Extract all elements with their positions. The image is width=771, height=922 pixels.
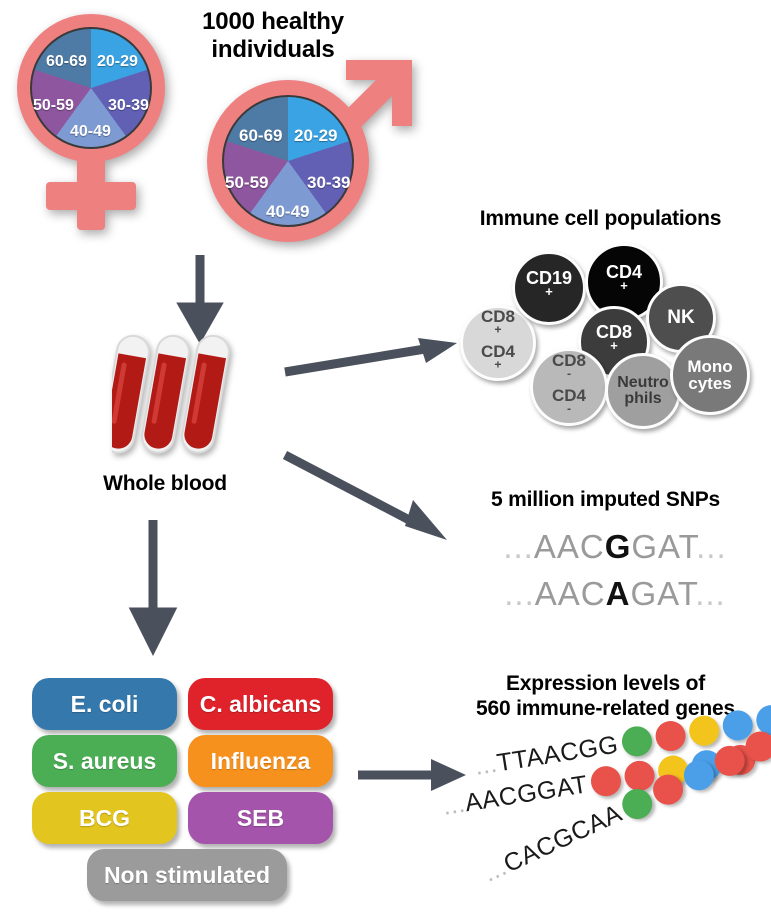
blood-tubes xyxy=(112,334,252,464)
stimulus-label: S. aureus xyxy=(53,748,157,775)
cell-line-1: Neutro xyxy=(617,375,669,391)
strand-bead xyxy=(687,714,721,748)
stimulus-label: E. coli xyxy=(71,691,139,718)
arrow-blood-to-stimuli xyxy=(128,520,178,650)
stimulus-label: BCG xyxy=(79,805,130,832)
female-symbol: 60-69 20-29 50-59 30-39 40-49 xyxy=(8,10,188,240)
age-label-20-29-female: 20-29 xyxy=(97,53,138,71)
stimulus-box-bcg[interactable]: BCG xyxy=(32,792,177,844)
cell-label: NK xyxy=(667,308,694,328)
stimulus-box-seb[interactable]: SEB xyxy=(188,792,333,844)
snp-row: ...AACAGAT... xyxy=(470,575,760,613)
snp-suffix: GAT xyxy=(630,575,695,612)
snp-prefix: AAC xyxy=(535,575,606,612)
snp-row: ...AACGGAT... xyxy=(470,528,760,566)
cell-sup-2: - xyxy=(567,401,571,415)
snp-suffix: GAT xyxy=(631,528,696,565)
cell-sup: + xyxy=(620,278,628,293)
blood-tubes-glyph xyxy=(112,334,252,464)
strand-sequence: ...AACGGAT xyxy=(441,770,590,822)
stimulus-label: Non stimulated xyxy=(104,862,270,889)
immune-cell-cd19p: CD19+ xyxy=(512,251,586,325)
snp-lead: ... xyxy=(504,575,535,612)
snp-variant-base: A xyxy=(606,575,631,612)
arrow-blood-to-snp xyxy=(285,450,460,550)
age-label-30-39-male: 30-39 xyxy=(307,173,350,193)
stimulus-label: C. albicans xyxy=(200,691,321,718)
strand-bead xyxy=(710,741,750,781)
cell-line-2: cytes xyxy=(687,375,732,393)
stimulus-label: SEB xyxy=(237,805,284,832)
whole-blood-label: Whole blood xyxy=(60,472,270,497)
age-label-60-69-male: 60-69 xyxy=(239,126,282,146)
stimulus-label: Influenza xyxy=(211,748,311,775)
strand-bead xyxy=(589,764,623,798)
cell-sup-1: + xyxy=(494,322,501,336)
cell-sup: + xyxy=(545,284,553,299)
snp-sequences: ...AACGGAT... ...AACAGAT... xyxy=(470,528,760,618)
snp-variant-base: G xyxy=(605,528,632,565)
expression-title-line-1: Expression levels of xyxy=(440,672,771,697)
strand-bead xyxy=(620,724,654,758)
immune-cell-cluster: CD8+ CD4+ CD19+ CD4+ CD8+ NK CD8- CD4- N… xyxy=(460,243,760,423)
age-label-60-69-female: 60-69 xyxy=(46,53,87,71)
immune-cell-cd8n-cd4n: CD8- CD4- xyxy=(530,348,608,426)
section-title-immune: Immune cell populations xyxy=(430,207,771,232)
stimulus-box-non-stimulated[interactable]: Non stimulated xyxy=(87,849,287,901)
age-label-50-59-female: 50-59 xyxy=(33,97,74,115)
cohort-title-line-1: 1000 healthy xyxy=(158,8,388,36)
cell-sup-1: - xyxy=(567,366,571,380)
immune-cell-neutrophils: Neutro phils xyxy=(605,353,681,429)
cell-sup: + xyxy=(610,338,618,353)
age-label-20-29-male: 20-29 xyxy=(294,126,337,146)
immune-cell-monocytes: Mono cytes xyxy=(670,335,750,415)
cell-line-1: Mono xyxy=(687,358,732,376)
age-label-30-39-female: 30-39 xyxy=(108,97,149,115)
age-label-50-59-male: 50-59 xyxy=(225,173,268,193)
age-label-40-49-male: 40-49 xyxy=(266,202,309,222)
strand-bases: CACGCAA xyxy=(499,799,626,878)
stimulus-box-s-aureus[interactable]: S. aureus xyxy=(32,735,177,787)
snp-lead: ... xyxy=(503,528,534,565)
snp-prefix: AAC xyxy=(534,528,605,565)
snp-trail: ... xyxy=(695,575,726,612)
stimulus-box-e-coli[interactable]: E. coli xyxy=(32,678,177,730)
age-label-40-49-female: 40-49 xyxy=(70,123,111,141)
section-title-snp: 5 million imputed SNPs xyxy=(440,488,771,513)
arrow-stimuli-to-expression xyxy=(358,755,468,795)
cell-sup-2: + xyxy=(494,357,501,371)
snp-trail: ... xyxy=(696,528,727,565)
cell-line-2: phils xyxy=(617,391,669,407)
stimulus-box-influenza[interactable]: Influenza xyxy=(188,735,333,787)
arrow-cohort-to-blood xyxy=(175,255,225,340)
stimulus-box-c-albicans[interactable]: C. albicans xyxy=(188,678,333,730)
expression-strands: ...TTAACGG ...AACGGAT ...CACGCAA xyxy=(455,730,771,910)
male-symbol: 60-69 20-29 50-59 30-39 40-49 xyxy=(200,48,420,248)
strand-bead xyxy=(653,719,687,753)
arrow-blood-to-immune xyxy=(285,330,460,375)
